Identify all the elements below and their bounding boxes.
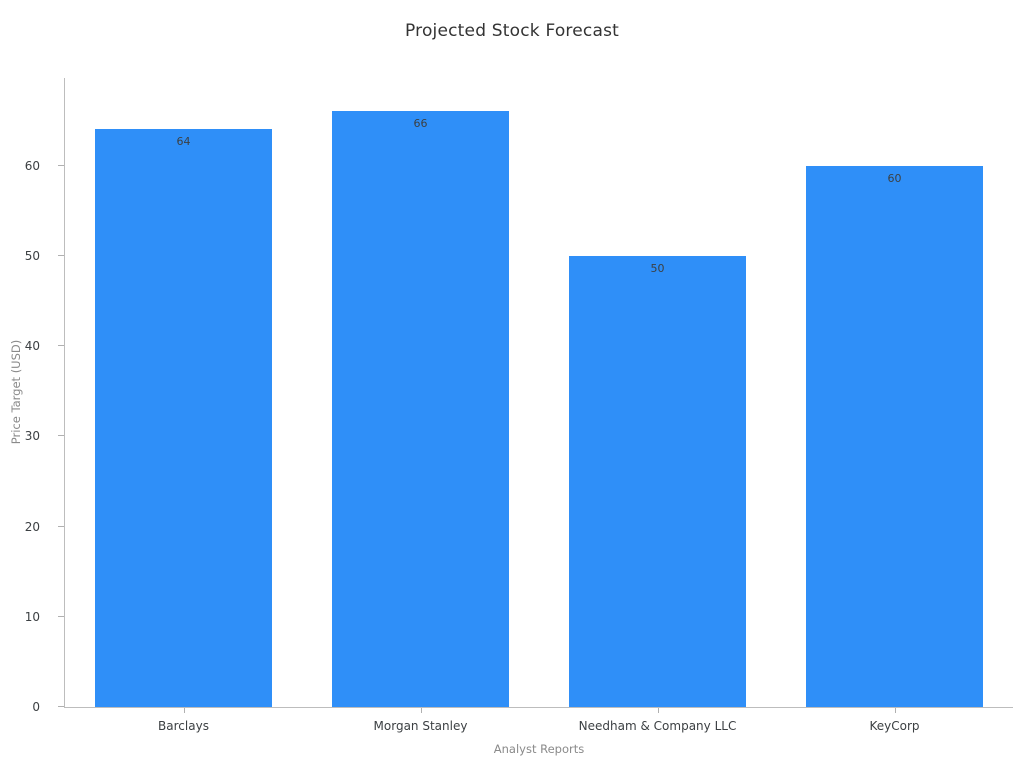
bar-keycorp[interactable]: 60 xyxy=(806,166,984,707)
plot-area: 64665060 xyxy=(65,78,1013,707)
y-tick-label: 60 xyxy=(0,158,40,174)
bar-barclays[interactable]: 64 xyxy=(95,129,273,707)
y-tick-label: 10 xyxy=(0,609,40,625)
x-tick-label: KeyCorp xyxy=(745,718,1024,734)
bar-chart-figure: Projected Stock Forecast 0102030405060 B… xyxy=(0,0,1024,768)
y-tick-label: 0 xyxy=(0,699,40,715)
y-tick-mark xyxy=(58,435,64,436)
bar-value-label: 50 xyxy=(569,263,747,275)
bar-value-label: 66 xyxy=(332,118,510,130)
bar-morgan-stanley[interactable]: 66 xyxy=(332,111,510,707)
x-tick-mark xyxy=(421,708,422,713)
x-axis-spine xyxy=(65,707,1013,708)
bar-value-label: 60 xyxy=(806,173,984,185)
x-tick-mark xyxy=(184,708,185,713)
bar-needham-company-llc[interactable]: 50 xyxy=(569,256,747,707)
chart-title: Projected Stock Forecast xyxy=(0,21,1024,41)
x-axis-label: Analyst Reports xyxy=(65,742,1013,756)
y-tick-mark xyxy=(58,165,64,166)
y-tick-mark xyxy=(58,616,64,617)
y-tick-label: 50 xyxy=(0,248,40,264)
x-tick-mark xyxy=(658,708,659,713)
y-axis-label: Price Target (USD) xyxy=(9,292,23,492)
y-tick-mark xyxy=(58,706,64,707)
y-tick-mark xyxy=(58,255,64,256)
x-tick-mark xyxy=(895,708,896,713)
y-tick-mark xyxy=(58,526,64,527)
y-tick-mark xyxy=(58,345,64,346)
y-tick-label: 20 xyxy=(0,519,40,535)
bar-value-label: 64 xyxy=(95,136,273,148)
